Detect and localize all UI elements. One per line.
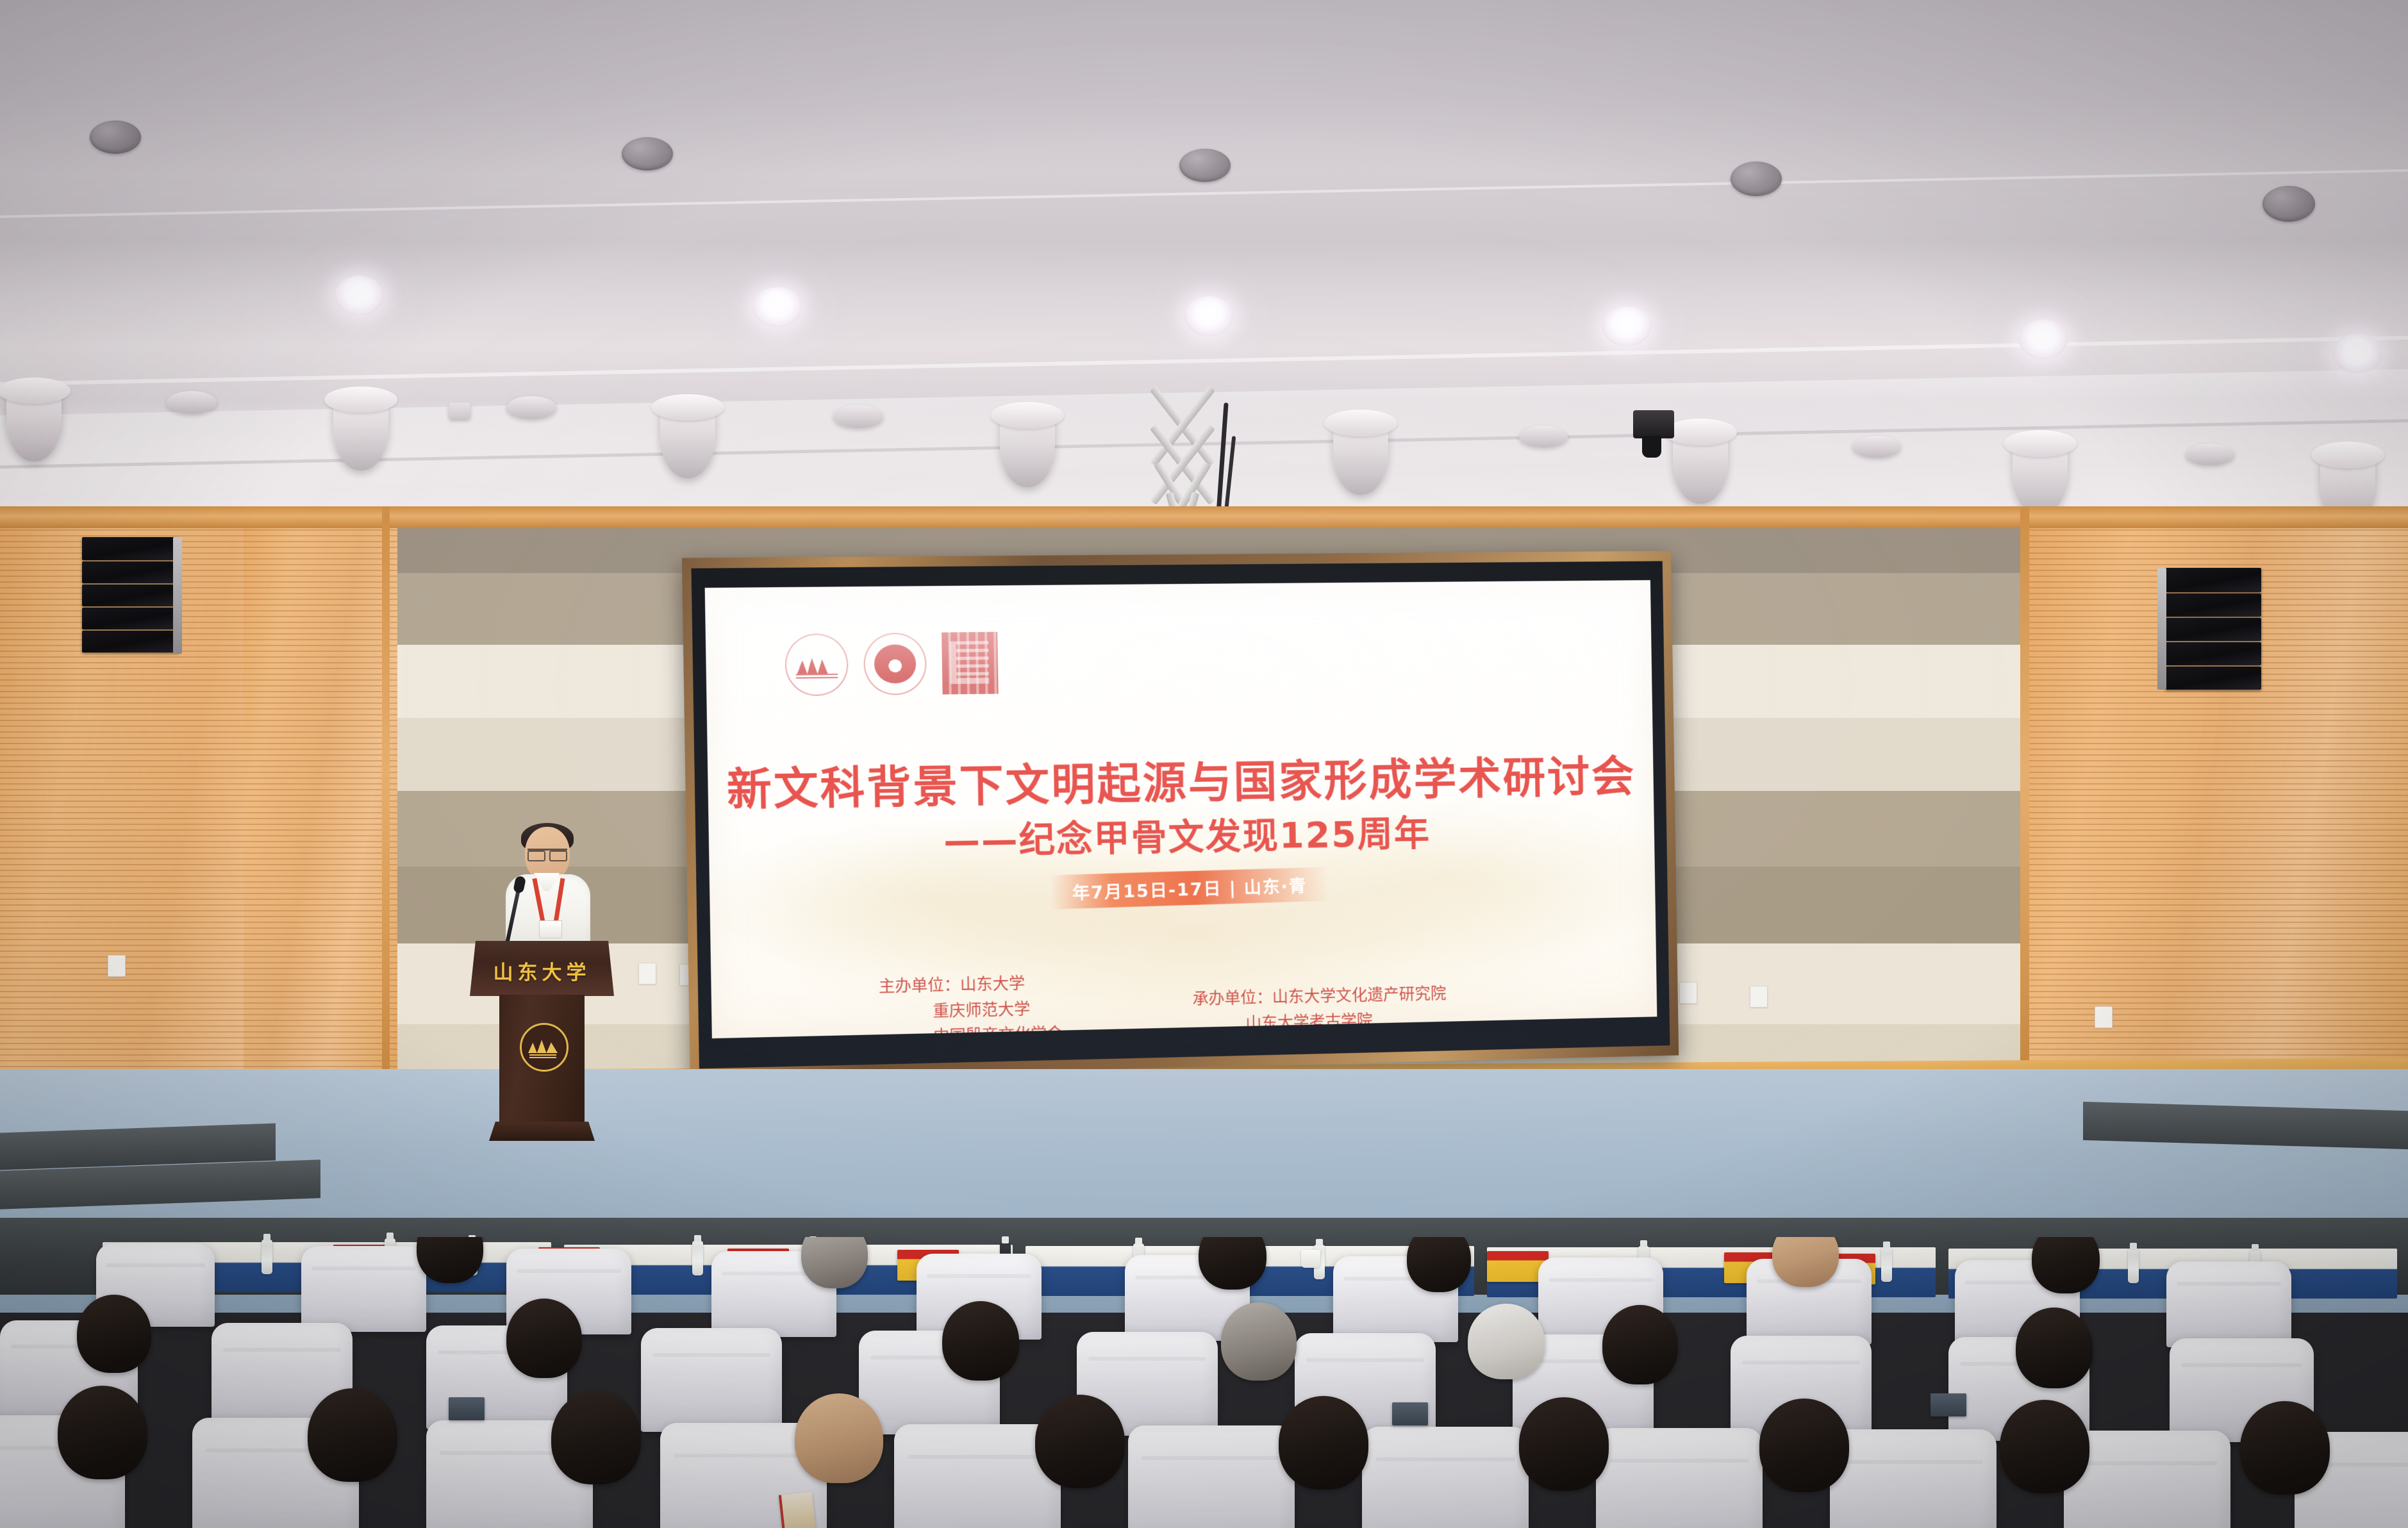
ceiling-camera-icon <box>1633 410 1674 438</box>
attendee-head <box>506 1299 582 1378</box>
projection-screen: 新文科背景下文明起源与国家形成学术研讨会 ——纪念甲骨文发现125周年 年7月1… <box>682 551 1679 1079</box>
lectern: 山东大学 <box>470 941 614 1152</box>
laptop[interactable] <box>449 1397 485 1420</box>
attendee-head <box>1199 1237 1266 1290</box>
chair-cover <box>1596 1428 1763 1528</box>
attendee-head <box>795 1393 883 1483</box>
ceiling-air-diffuser <box>1519 426 1568 447</box>
wood-edge-trim-right <box>2020 506 2029 1096</box>
wood-cornice-trim <box>0 506 2408 528</box>
chair-cover <box>1362 1427 1529 1528</box>
attendee-head <box>58 1386 147 1479</box>
attendee-head <box>1035 1395 1125 1488</box>
attendee-head <box>77 1295 151 1373</box>
wood-slat-panel-left-inner <box>244 506 397 1096</box>
organizers-label: 主办单位： <box>879 976 961 996</box>
ceiling-downlight-icon <box>335 276 383 315</box>
ceiling-downlight-icon <box>753 287 802 327</box>
glasses-icon <box>527 849 567 859</box>
attendee-head <box>1602 1305 1678 1384</box>
attendee-head <box>801 1237 868 1288</box>
ceiling-speaker-pod <box>1673 426 1728 504</box>
attendee-head <box>417 1237 483 1283</box>
ceiling-speaker-pod <box>1333 417 1388 495</box>
lectern-base <box>489 1122 595 1141</box>
screen-logo-row <box>785 632 999 697</box>
chair-cover <box>301 1246 426 1332</box>
attendee-head <box>1279 1396 1368 1490</box>
ceiling-camera-lens-icon <box>1642 436 1661 458</box>
attendee-head <box>2016 1308 2093 1388</box>
wood-edge-trim-left <box>382 506 390 1096</box>
recessed-light-icon <box>90 120 141 154</box>
organizer-2: 重庆师范大学 <box>879 995 1063 1025</box>
chair-cover <box>1128 1425 1295 1528</box>
recessed-light-icon <box>1179 149 1231 182</box>
attendee-head <box>1221 1302 1297 1381</box>
line-array-speaker-right <box>2165 568 2261 695</box>
ceiling-speaker-pod <box>2013 437 2068 515</box>
laptop[interactable] <box>1392 1402 1428 1425</box>
audience-seating <box>0 1237 2408 1528</box>
slide-organizers: 主办单位：山东大学 重庆师范大学 中国殷商文化学会 <box>879 970 1063 1038</box>
host-1: 山东大学文化遗产研究院 <box>1272 984 1447 1006</box>
recessed-light-icon <box>2263 186 2315 222</box>
oracle-bone-seal-logo-icon <box>942 632 999 695</box>
name-badge <box>539 920 562 938</box>
recessed-light-icon <box>1731 162 1782 196</box>
attendee-head <box>308 1388 397 1482</box>
attendee-head <box>2000 1400 2089 1493</box>
chair-cover <box>1830 1429 1997 1528</box>
attendee-head <box>1519 1397 1609 1491</box>
line-array-speaker-left <box>82 537 179 659</box>
lectern-name-text: 山东大学 <box>470 956 614 985</box>
ceiling-air-diffuser <box>506 396 556 419</box>
ceiling-downlight-icon <box>2333 333 2382 373</box>
wall-socket[interactable] <box>1750 986 1768 1008</box>
ceiling-air-diffuser <box>833 405 883 428</box>
ceiling-air-diffuser <box>167 391 217 414</box>
chair-cover <box>2166 1261 2291 1347</box>
shandong-university-emblem-icon <box>785 633 849 696</box>
ceiling-speaker-pod <box>1000 409 1055 487</box>
chair-cover <box>641 1328 782 1432</box>
recessed-light-icon <box>622 137 673 170</box>
wall-socket[interactable] <box>2095 1006 2113 1028</box>
attendee-head <box>2240 1401 2330 1495</box>
ceiling <box>0 0 2408 526</box>
wall-socket[interactable] <box>108 955 126 977</box>
ceiling-downlight-icon <box>1602 306 1651 346</box>
ceiling-air-diffuser <box>1852 436 1901 458</box>
attendee-head <box>942 1301 1019 1381</box>
ceiling-downlight-icon <box>1184 296 1233 336</box>
attendee-head <box>551 1391 641 1484</box>
conference-hall-photo: 新文科背景下文明起源与国家形成学术研讨会 ——纪念甲骨文发现125周年 年7月1… <box>0 0 2408 1528</box>
organizer-1: 山东大学 <box>960 974 1025 993</box>
attendee-head <box>1407 1237 1471 1292</box>
ceiling-air-diffuser <box>2186 444 2234 465</box>
ceiling-downlight-icon <box>2019 319 2068 359</box>
wall-socket[interactable] <box>638 963 656 984</box>
hosts-label: 承办单位： <box>1192 988 1272 1008</box>
slide-date-band: 年7月15日-17日 | 山东·青 <box>1050 867 1329 909</box>
attendee-head <box>2032 1237 2100 1293</box>
smoke-detector-icon <box>449 403 470 419</box>
chongqing-normal-university-emblem-icon <box>863 633 927 695</box>
attendee-head <box>1759 1399 1849 1492</box>
shandong-university-crest-icon <box>520 1023 569 1072</box>
program-booklet[interactable] <box>779 1491 816 1528</box>
wall-socket[interactable] <box>1679 982 1697 1004</box>
screen-surface: 新文科背景下文明起源与国家形成学术研讨会 ——纪念甲骨文发现125周年 年7月1… <box>705 580 1657 1038</box>
attendee-head <box>1772 1237 1839 1287</box>
attendee-head-with-cap <box>1468 1304 1545 1379</box>
laptop[interactable] <box>1931 1393 1966 1416</box>
